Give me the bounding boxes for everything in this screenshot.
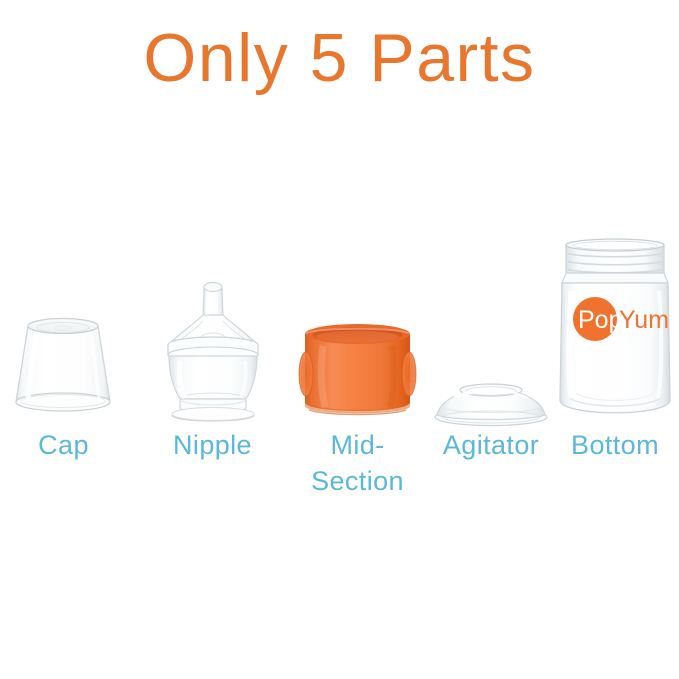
part-bottom[interactable]: Pop Yum <box>556 210 674 430</box>
logo-mark-text: Pop <box>578 306 622 334</box>
part-cap[interactable] <box>6 210 121 430</box>
parts-illustration-row: Pop Yum <box>0 210 679 430</box>
bottle-cap-icon <box>6 310 121 430</box>
label-agitator: Agitator <box>432 428 550 464</box>
part-agitator[interactable] <box>432 210 550 430</box>
label-mid-section: Mid- Section <box>295 428 420 499</box>
part-mid-section[interactable] <box>295 210 420 430</box>
bottle-nipple-icon <box>150 275 275 430</box>
logo-word-text: Yum <box>619 306 669 334</box>
bottle-body-icon: Pop Yum <box>556 235 674 430</box>
label-mid-section-line1: Mid- <box>330 430 384 460</box>
bottle-collar-icon <box>295 312 420 430</box>
parts-label-row: Cap Nipple Mid- Section Agitator Bottom <box>0 428 679 508</box>
page-title: Only 5 Parts <box>0 24 679 92</box>
label-mid-section-line2: Section <box>311 466 404 496</box>
label-cap: Cap <box>6 428 121 464</box>
part-nipple[interactable] <box>150 210 275 430</box>
label-nipple: Nipple <box>150 428 275 464</box>
bottle-agitator-icon <box>432 375 550 430</box>
product-parts-infographic: Only 5 Parts <box>0 0 679 679</box>
label-bottom: Bottom <box>556 428 674 464</box>
